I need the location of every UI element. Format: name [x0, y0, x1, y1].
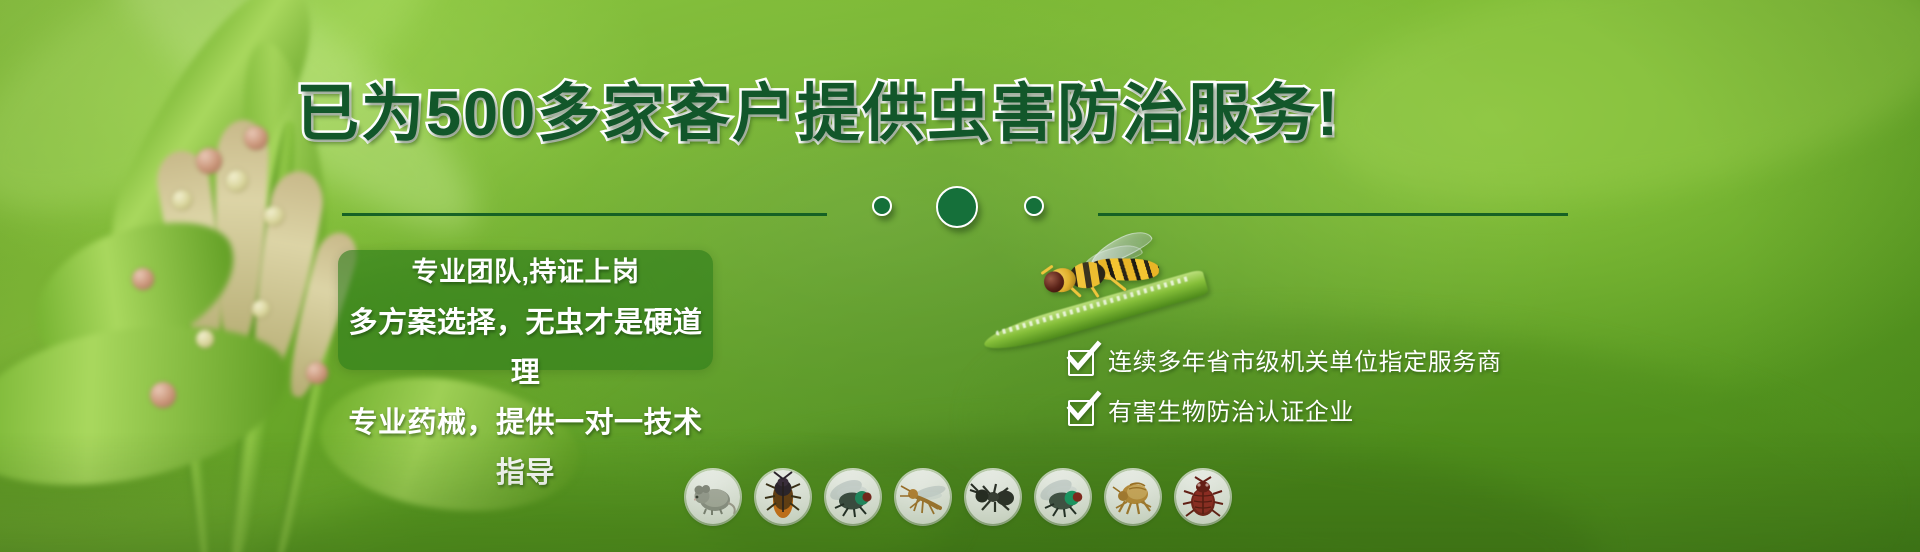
decorative-dot-large-center — [936, 186, 978, 228]
checkbox-check-icon — [1068, 350, 1094, 376]
plant-bud-8 — [196, 330, 214, 348]
feature-row: 有害生物防治认证企业 — [1068, 388, 1608, 438]
mouse-icon — [686, 470, 740, 524]
blowfly-icon — [1036, 470, 1090, 524]
plant-bud-7 — [150, 382, 176, 408]
plant-bud-2 — [244, 126, 268, 150]
pest-control-promo-banner: 已为500多家客户提供虫害防治服务! 专业团队,持证上岗 多方案选择，无虫才是硬… — [0, 0, 1920, 552]
plant-bud-1 — [196, 148, 222, 174]
decorative-dot-small-left — [872, 196, 892, 216]
divider-rule-left — [342, 213, 827, 216]
certification-feature-list: 连续多年省市级机关单位指定服务商 有害生物防治认证企业 — [1068, 338, 1608, 438]
selling-point-line-1: 专业团队,持证上岗 — [338, 246, 713, 298]
plant-bud-10 — [252, 300, 270, 318]
plant-bud-9 — [306, 362, 328, 384]
ant-icon — [966, 470, 1020, 524]
selling-point-line-3: 专业药械，提供一对一技术指导 — [338, 398, 713, 498]
plant-bud-3 — [172, 190, 192, 210]
pest-icon-row — [686, 470, 1230, 524]
decorative-dot-small-right — [1024, 196, 1044, 216]
divider-rule-right — [1098, 213, 1568, 216]
checkbox-check-icon — [1068, 400, 1094, 426]
plant-bud-5 — [132, 268, 154, 290]
selling-point-line-2: 多方案选择，无虫才是硬道理 — [338, 298, 713, 398]
bedbug-icon — [1176, 470, 1230, 524]
mosquito-icon — [896, 470, 950, 524]
selling-points-text: 专业团队,持证上岗 多方案选择，无虫才是硬道理 专业药械，提供一对一技术指导 — [338, 246, 713, 498]
plant-bud-6 — [264, 206, 284, 226]
feature-label: 有害生物防治认证企业 — [1108, 400, 1354, 426]
feature-row: 连续多年省市级机关单位指定服务商 — [1068, 338, 1608, 388]
flea-icon — [1106, 470, 1160, 524]
cockroach-icon — [756, 470, 810, 524]
banner-headline: 已为500多家客户提供虫害防治服务! — [296, 78, 1306, 150]
fly-icon — [826, 470, 880, 524]
feature-label: 连续多年省市级机关单位指定服务商 — [1108, 350, 1502, 376]
plant-bud-4 — [226, 170, 248, 192]
